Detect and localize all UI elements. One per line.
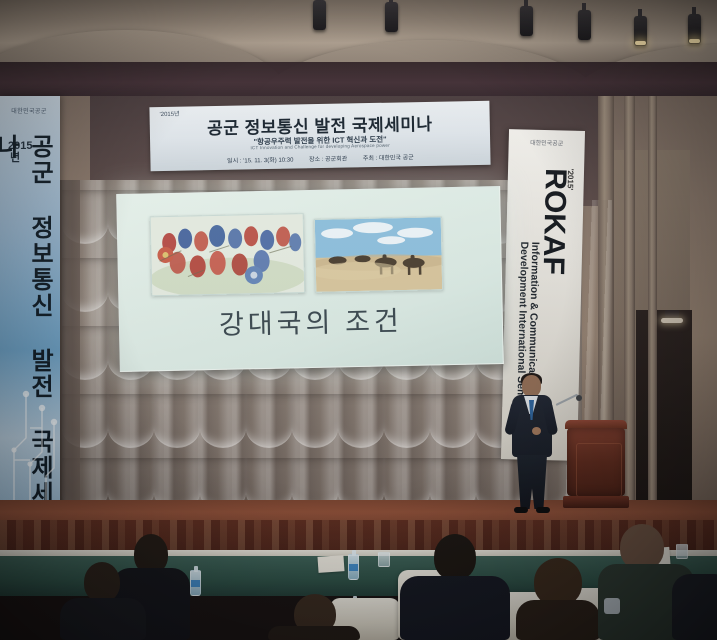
attendee-head	[434, 534, 476, 580]
speaker-trousers	[517, 455, 547, 509]
speaker-head	[522, 375, 541, 397]
wall-column	[648, 96, 657, 526]
ceiling-spotlight-icon	[313, 0, 326, 30]
speaker-shoe	[536, 507, 550, 513]
attendee-woman-right	[512, 558, 604, 640]
rokaf-emblem-icon: 대한민국공군	[509, 137, 585, 148]
speaker-shoe	[514, 507, 528, 513]
banner-host: 주최 : 대한민국 공군	[363, 155, 414, 162]
banner-date: 일시 : '15. 11. 3(화) 10:30	[227, 158, 293, 165]
water-bottle	[348, 554, 359, 580]
slide-title: 강대국의 조건	[120, 297, 503, 344]
podium-lectern	[565, 420, 627, 512]
ceiling-spotlight-icon	[385, 2, 398, 32]
water-bottle	[190, 570, 201, 596]
speaker-presenter	[505, 375, 559, 517]
banner-right-acronym: ROKAF	[535, 168, 572, 275]
attendee-far-right	[672, 560, 717, 640]
ceiling-spotlight-icon	[688, 14, 701, 44]
table-paper	[317, 555, 344, 573]
attendee-shoulders	[672, 574, 717, 640]
stage-doorway	[636, 310, 692, 525]
attendee-woman-bun	[60, 562, 146, 640]
slide-image-battle	[150, 213, 306, 296]
drinking-glass	[378, 552, 390, 567]
projection-screen: 강대국의 조건	[116, 186, 504, 372]
attendee-shoulders	[268, 626, 360, 640]
attendee-head	[84, 562, 120, 602]
slide-image-horsemen	[314, 216, 444, 293]
attendee-shoulders	[516, 600, 600, 640]
podium-base	[563, 496, 629, 508]
banner-left-vertical: 대한민국공군 2015년 공군 정보통신 발전 국제세미나	[0, 96, 60, 534]
rokaf-emblem-icon: 대한민국공군	[8, 102, 50, 122]
podium-panel	[576, 443, 622, 497]
uniform-patch-icon	[604, 598, 620, 614]
banner-top-horizontal: '2015년 공군 정보통신 발전 국제세미나 "항공우주력 발전을 위한 IC…	[149, 101, 490, 172]
banner-place: 장소 : 공군회관	[309, 156, 347, 163]
wall-light-icon	[665, 310, 679, 319]
ceiling-spotlight-icon	[578, 10, 591, 40]
circuit-pattern-icon	[0, 364, 60, 504]
podium-body	[567, 428, 625, 496]
ceiling-spotlight-icon	[634, 16, 647, 46]
attendee-man-dark-suit	[400, 534, 510, 640]
attendee-head	[534, 558, 582, 606]
ceiling-spotlight-icon	[520, 6, 533, 36]
attendee-shoulders	[60, 598, 146, 640]
speaker-hand	[532, 427, 541, 435]
attendee-woman-center	[268, 594, 360, 640]
seminar-photo: 대한민국공군 2015년 공군 정보통신 발전 국제세미나 '2015년 공군 …	[0, 0, 717, 640]
attendee-shoulders	[400, 576, 510, 640]
banner-top-info: 일시 : '15. 11. 3(화) 10:30 장소 : 공군회관 주최 : …	[150, 151, 490, 167]
